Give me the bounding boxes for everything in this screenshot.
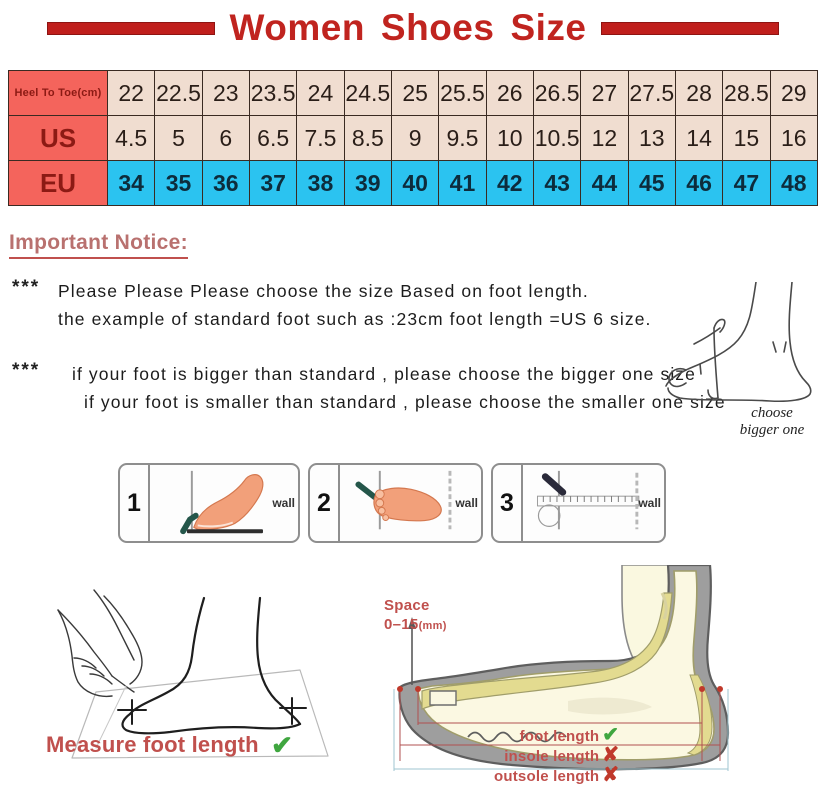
cell-cm-4: 24 [297, 71, 343, 115]
cell-eu-9: 43 [534, 161, 580, 205]
step-3-illustration: wall [523, 465, 664, 541]
step-1-illustration: wall [150, 465, 298, 541]
notice-line-2b: if your foot is smaller than standard , … [84, 388, 726, 416]
shoe-length-labels: foot length✔ insole length✘ outsole leng… [494, 726, 619, 786]
notice-bullet-2: *** [12, 360, 40, 382]
step-1-wall-label: wall [272, 496, 295, 510]
cell-cm-6: 25 [392, 71, 438, 115]
table-row-us: US 4.5 5 6 6.5 7.5 8.5 9 9.5 10 10.5 12 … [9, 116, 817, 160]
notice-line-1b: the example of standard foot such as :23… [58, 305, 652, 333]
cell-cm-9: 26.5 [534, 71, 580, 115]
notice-block-2-lines: if your foot is bigger than standard , p… [72, 360, 726, 416]
cell-us-2: 6 [203, 116, 249, 160]
label-insole-length-row: insole length✘ [494, 746, 619, 766]
page-title-word-1: Women [229, 7, 364, 48]
cell-cm-11: 27.5 [629, 71, 675, 115]
cell-us-14: 16 [771, 116, 817, 160]
title-rule-left [47, 22, 215, 35]
label-foot-length-row: foot length✔ [494, 726, 619, 746]
notice-line-1a: Please Please Please choose the size Bas… [58, 277, 652, 305]
cell-eu-1: 35 [155, 161, 201, 205]
cell-cm-13: 28.5 [723, 71, 769, 115]
label-outsole-length: outsole length [494, 768, 599, 785]
cell-us-12: 14 [676, 116, 722, 160]
cell-cm-14: 29 [771, 71, 817, 115]
step-2-illustration: wall [340, 465, 481, 541]
row-label-heel-to-toe: Heel To Toe(cm) [9, 71, 107, 115]
cell-us-10: 12 [581, 116, 627, 160]
cell-cm-7: 25.5 [439, 71, 485, 115]
cell-eu-13: 47 [723, 161, 769, 205]
size-chart-body: Heel To Toe(cm) 22 22.5 23 23.5 24 24.5 … [9, 71, 817, 205]
table-row-eu: EU 34 35 36 37 38 39 40 41 42 43 44 45 4… [9, 161, 817, 205]
cell-eu-12: 46 [676, 161, 722, 205]
space-gap-label: Space 0–15(mm) [384, 596, 447, 636]
choose-bigger-one-caption: choose bigger one [712, 405, 826, 439]
space-label-line1: Space [384, 597, 430, 614]
cell-us-13: 15 [723, 116, 769, 160]
cell-eu-4: 38 [297, 161, 343, 205]
cell-cm-5: 24.5 [345, 71, 391, 115]
cell-eu-5: 39 [345, 161, 391, 205]
notice-block-1: *** Please Please Please choose the size… [12, 277, 652, 333]
cell-cm-3: 23.5 [250, 71, 296, 115]
size-chart-table: Heel To Toe(cm) 22 22.5 23 23.5 24 24.5 … [8, 70, 818, 206]
cell-us-3: 6.5 [250, 116, 296, 160]
cell-eu-0: 34 [108, 161, 154, 205]
cell-us-9: 10.5 [534, 116, 580, 160]
label-foot-length: foot length [520, 728, 600, 745]
cell-eu-14: 48 [771, 161, 817, 205]
step-number-2: 2 [310, 465, 340, 541]
cell-cm-2: 23 [203, 71, 249, 115]
cell-eu-8: 42 [487, 161, 533, 205]
cell-cm-8: 26 [487, 71, 533, 115]
cell-cm-10: 27 [581, 71, 627, 115]
foot-length-check-icon: ✔ [602, 724, 619, 746]
cell-us-11: 13 [629, 116, 675, 160]
measure-check-icon: ✔ [271, 730, 293, 761]
cell-us-8: 10 [487, 116, 533, 160]
step-2-wall-label: wall [455, 496, 478, 510]
label-outsole-length-row: outsole length✘ [494, 766, 619, 786]
step-box-1: 1 wall [118, 463, 300, 543]
cell-us-0: 4.5 [108, 116, 154, 160]
notice-block-2: *** if your foot is bigger than standard… [12, 360, 726, 416]
cell-eu-3: 37 [250, 161, 296, 205]
cell-eu-2: 36 [203, 161, 249, 205]
label-insole-length: insole length [504, 748, 599, 765]
cell-cm-12: 28 [676, 71, 722, 115]
choose-bigger-line2: bigger one [740, 422, 805, 438]
outsole-length-cross-icon: ✘ [602, 764, 619, 786]
important-notice-heading: Important Notice: [9, 231, 188, 259]
cell-eu-11: 45 [629, 161, 675, 205]
cell-cm-0: 22 [108, 71, 154, 115]
table-row-heel-to-toe: Heel To Toe(cm) 22 22.5 23 23.5 24 24.5 … [9, 71, 817, 115]
step-box-3: 3 wall [491, 463, 666, 543]
page-title-bar: WomenShoesSize [0, 0, 826, 56]
notice-line-2a: if your foot is bigger than standard , p… [72, 360, 726, 388]
cell-us-6: 9 [392, 116, 438, 160]
cell-eu-6: 40 [392, 161, 438, 205]
step-number-1: 1 [120, 465, 150, 541]
cell-us-5: 8.5 [345, 116, 391, 160]
cell-eu-7: 41 [439, 161, 485, 205]
space-label-line2: 0–15 [384, 616, 419, 633]
insole-length-cross-icon: ✘ [602, 744, 619, 766]
cell-us-1: 5 [155, 116, 201, 160]
choose-bigger-line1: choose [751, 405, 793, 421]
notice-block-1-lines: Please Please Please choose the size Bas… [58, 277, 652, 333]
row-label-eu: EU [9, 161, 107, 205]
row-label-us: US [9, 116, 107, 160]
page-title-word-2: Shoes [381, 7, 495, 48]
cell-cm-1: 22.5 [155, 71, 201, 115]
measure-foot-length-caption: Measure foot length ✔ [46, 730, 293, 761]
measure-foot-length-text: Measure foot length [46, 732, 259, 757]
title-rule-right [601, 22, 779, 35]
page-title-word-3: Size [510, 7, 586, 48]
measurement-steps: 1 wall 2 wall [118, 463, 666, 543]
cell-us-4: 7.5 [297, 116, 343, 160]
measure-foot-length-illustration [8, 562, 368, 798]
step-3-wall-label: wall [638, 496, 661, 510]
cell-us-7: 9.5 [439, 116, 485, 160]
step-box-2: 2 wall [308, 463, 483, 543]
space-label-unit: (mm) [419, 620, 447, 632]
cell-eu-10: 44 [581, 161, 627, 205]
notice-bullet-1: *** [12, 277, 40, 299]
step-number-3: 3 [493, 465, 523, 541]
page-title: WomenShoesSize [229, 7, 586, 49]
